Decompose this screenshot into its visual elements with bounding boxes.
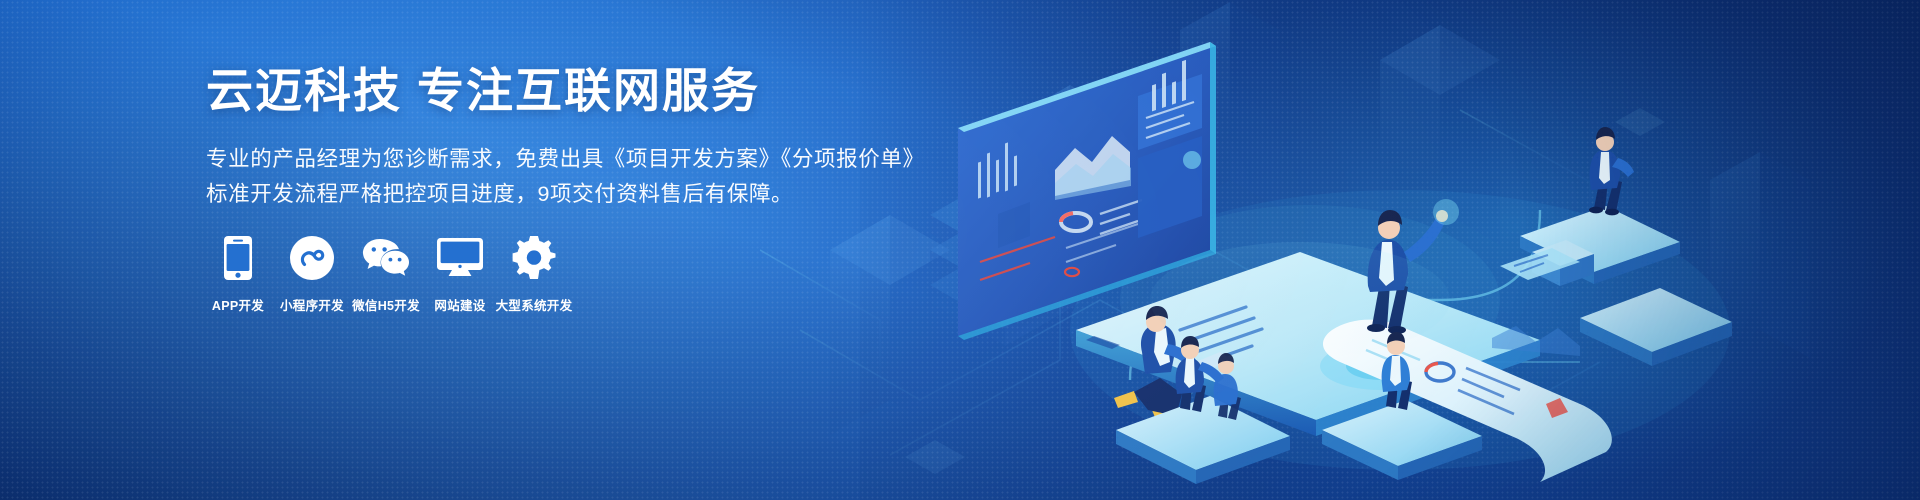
- service-item-app[interactable]: APP开发: [203, 232, 273, 314]
- wechat-icon[interactable]: [362, 232, 410, 284]
- service-label: 微信H5开发: [352, 295, 420, 314]
- service-label: 大型系统开发: [496, 295, 573, 314]
- mini-program-icon[interactable]: [290, 232, 334, 284]
- gear-icon[interactable]: [512, 232, 556, 284]
- service-label: 小程序开发: [280, 295, 344, 314]
- service-item-website[interactable]: 网站建设: [425, 232, 495, 314]
- service-item-large-system[interactable]: 大型系统开发: [499, 232, 569, 314]
- subtitle-line-1: 专业的产品经理为您诊断需求，免费出具《项目开发方案》《分项报价单》: [206, 142, 966, 177]
- service-label: APP开发: [212, 295, 264, 314]
- hero-copy: 云迈科技 专注互联网服务 专业的产品经理为您诊断需求，免费出具《项目开发方案》《…: [206, 66, 966, 212]
- hero-banner: 云迈科技 专注互联网服务 专业的产品经理为您诊断需求，免费出具《项目开发方案》《…: [0, 0, 1920, 500]
- service-item-miniprogram[interactable]: 小程序开发: [277, 232, 347, 314]
- subtitle-line-2: 标准开发流程严格把控项目进度，9项交付资料售后有保障。: [206, 177, 966, 212]
- service-item-wechat-h5[interactable]: 微信H5开发: [351, 232, 421, 314]
- desktop-monitor-icon[interactable]: [437, 232, 483, 284]
- service-label: 网站建设: [434, 295, 485, 314]
- service-icon-row: APP开发 小程序开发: [203, 232, 573, 314]
- page-title: 云迈科技 专注互联网服务: [206, 66, 966, 116]
- mobile-phone-icon[interactable]: [224, 232, 252, 284]
